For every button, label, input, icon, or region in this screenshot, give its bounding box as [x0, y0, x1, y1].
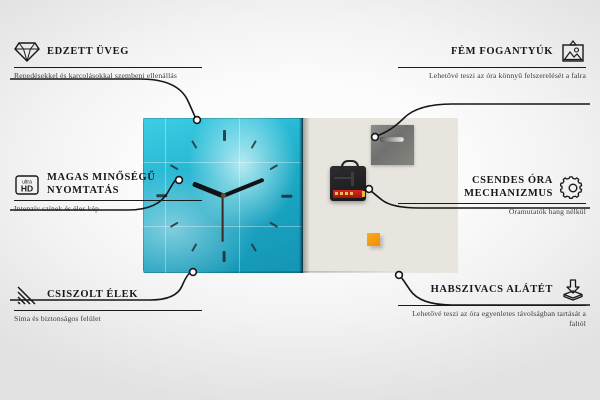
hour-tick: [269, 221, 278, 227]
feature-title: CSENDES ÓRA MECHANIZMUS: [398, 175, 553, 200]
feature-foam-pad[interactable]: HABSZIVACS ALÁTÉT Lehetővé teszi az óra …: [398, 278, 586, 329]
feature-metal-handles[interactable]: FÉM FOGANTYÚK Lehetővé teszi az óra könn…: [398, 40, 586, 81]
connector-tempered-glass: [10, 79, 196, 120]
battery-terminal: [362, 191, 365, 197]
feature-header: ultra HD MAGAS MINŐSÉGŰ NYOMTATÁS: [14, 172, 202, 197]
divider: [14, 310, 202, 311]
metal-hanger-bracket: [371, 125, 414, 165]
diamond-icon: [14, 40, 40, 64]
second-hand: [222, 196, 224, 242]
infographic-canvas: EDZETT ÜVEG Repedésekkel és karcolásokka…: [0, 0, 600, 400]
divider: [398, 305, 586, 306]
feature-high-quality-print[interactable]: ultra HD MAGAS MINŐSÉGŰ NYOMTATÁS Intenz…: [14, 172, 202, 214]
foam-spacer-pad: [367, 233, 380, 246]
feature-title: EDZETT ÜVEG: [47, 46, 129, 59]
feature-title: MAGAS MINŐSÉGŰ NYOMTATÁS: [47, 172, 202, 197]
feature-description: Lehetővé teszi az óra egyenletes távolsá…: [398, 309, 586, 329]
panel-shadow: [303, 118, 310, 273]
feature-description: Lehetővé teszi az óra könnyű felszerelés…: [398, 71, 586, 81]
feature-title: FÉM FOGANTYÚK: [451, 46, 553, 59]
feature-header: EDZETT ÜVEG: [14, 40, 202, 64]
feature-description: Sima és biztonságos felület: [14, 314, 202, 324]
divider: [398, 67, 586, 68]
mechanism-loop: [341, 160, 359, 170]
hour-tick: [223, 251, 226, 262]
hour-tick: [170, 164, 179, 170]
picture-frame-hanging-icon: [560, 40, 586, 64]
feature-polished-edges[interactable]: CSISZOLT ÉLEK Sima és biztonságos felüle…: [14, 283, 202, 324]
feature-quiet-mechanism[interactable]: CSENDES ÓRA MECHANIZMUS Óramutatók hang …: [398, 175, 586, 217]
feature-description: Repedésekkel és karcolásokkal szembeni e…: [14, 71, 202, 81]
feature-header: CSENDES ÓRA MECHANIZMUS: [398, 175, 586, 200]
divider: [398, 203, 586, 204]
feature-header: HABSZIVACS ALÁTÉT: [398, 278, 586, 302]
feature-description: Óramutatók hang nélkül: [398, 207, 586, 217]
feature-description: Intenzív színek és éles kép: [14, 204, 202, 214]
gear-icon: [560, 176, 586, 200]
quiet-clock-mechanism: [330, 166, 366, 201]
mechanism-detail: [351, 172, 354, 186]
hour-tick: [191, 243, 197, 252]
hour-tick: [269, 164, 278, 170]
feature-tempered-glass[interactable]: EDZETT ÜVEG Repedésekkel és karcolásokka…: [14, 40, 202, 81]
feature-title: CSISZOLT ÉLEK: [47, 289, 138, 302]
ultra-hd-icon: ultra HD: [14, 173, 40, 197]
bracket-slot: [380, 137, 404, 142]
arrow-down-pad-icon: [560, 278, 586, 302]
hatch-lines-icon: [14, 283, 40, 307]
hour-tick: [223, 130, 226, 141]
feature-header: CSISZOLT ÉLEK: [14, 283, 202, 307]
product-shadow: [150, 271, 452, 278]
divider: [14, 200, 202, 201]
minute-hand: [222, 177, 264, 197]
hour-tick: [251, 243, 257, 252]
battery-label: [335, 192, 355, 195]
feature-title: HABSZIVACS ALÁTÉT: [431, 284, 553, 297]
feature-header: FÉM FOGANTYÚK: [398, 40, 586, 64]
hour-tick: [191, 140, 197, 149]
hour-tick: [170, 221, 179, 227]
battery: [333, 190, 363, 198]
svg-text:HD: HD: [21, 183, 33, 193]
hand-center-cap: [221, 193, 226, 198]
divider: [14, 67, 202, 68]
hour-tick: [251, 140, 257, 149]
hour-tick: [281, 194, 292, 197]
